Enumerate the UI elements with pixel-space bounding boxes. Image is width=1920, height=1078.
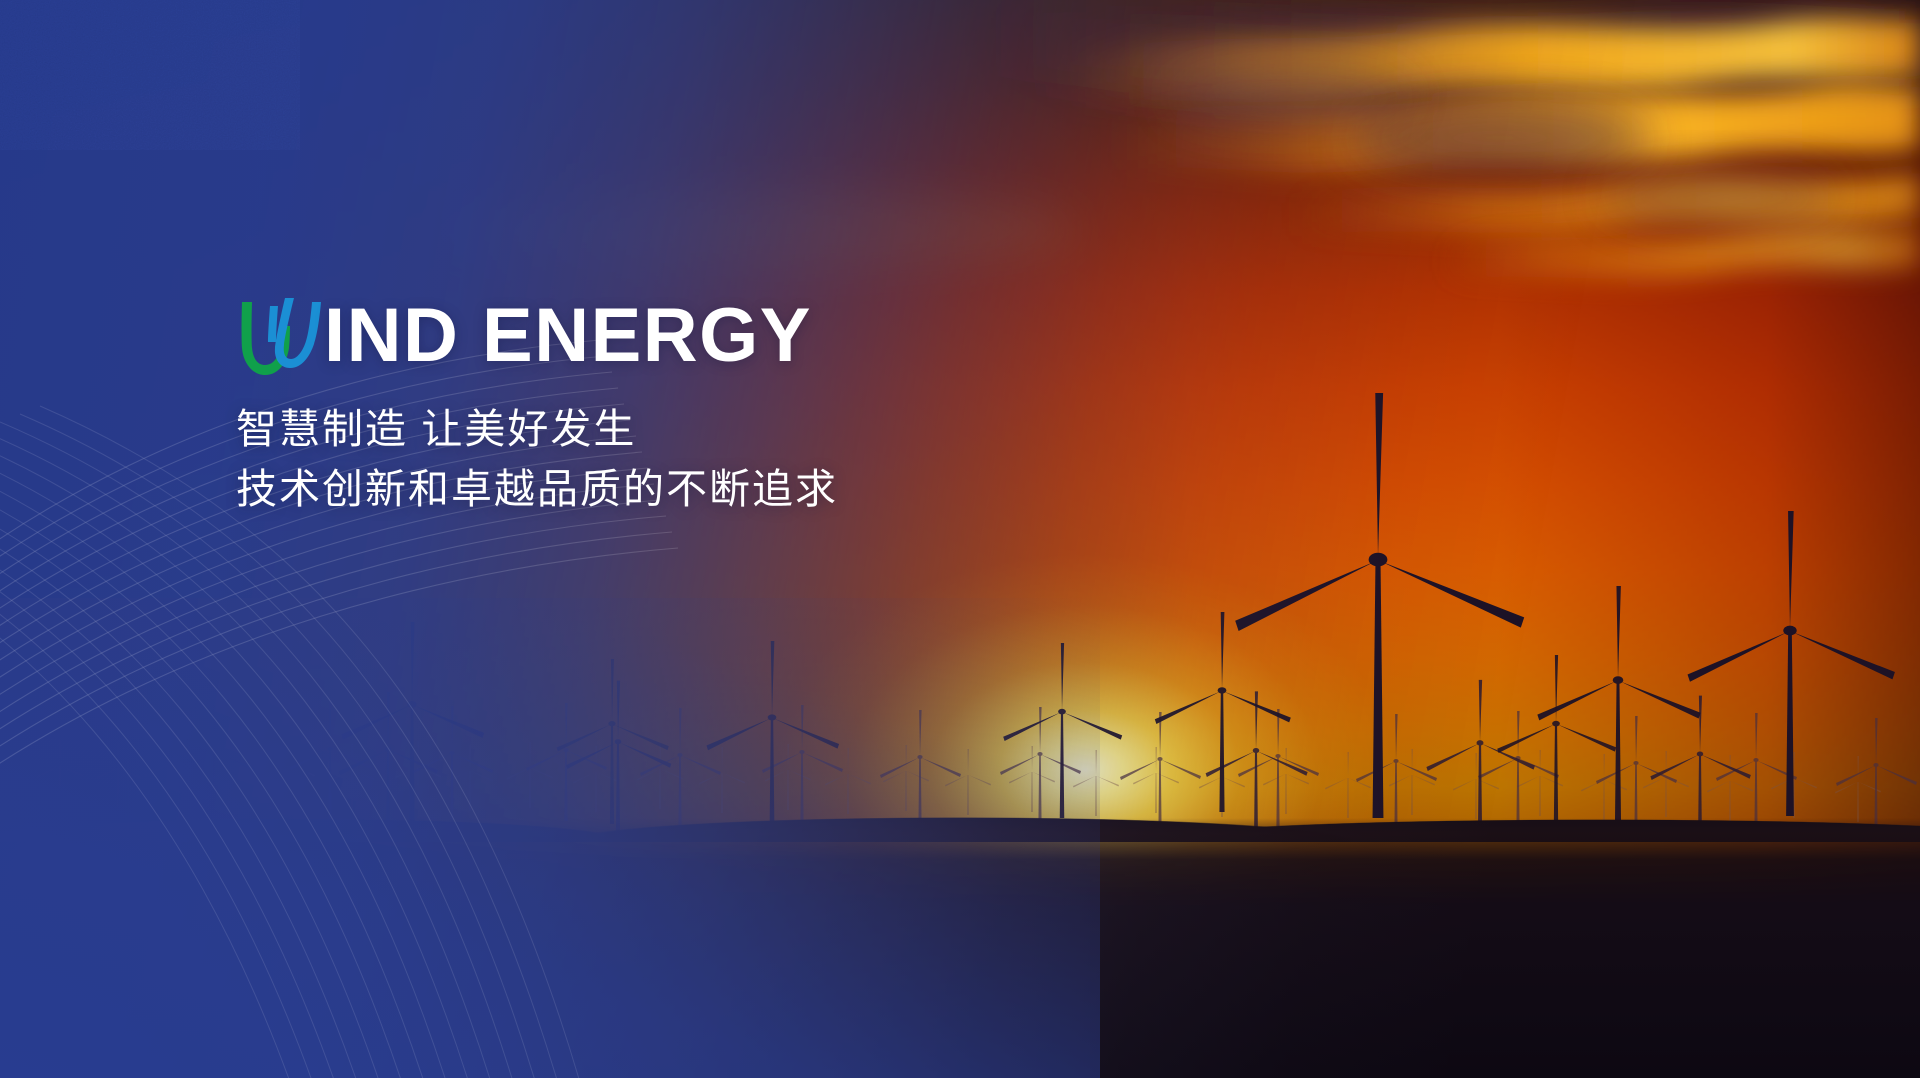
tagline-line-1: 智慧制造 让美好发生 xyxy=(236,400,838,460)
tagline-line-2: 技术创新和卓越品质的不断追求 xyxy=(236,460,838,520)
tagline-block: 智慧制造 让美好发生 技术创新和卓越品质的不断追求 xyxy=(236,400,838,520)
brand-wordmark: IND ENERGY xyxy=(324,298,812,374)
stylized-w-wind-mark-icon xyxy=(236,296,328,380)
hero-content: IND ENERGY 智慧制造 让美好发生 技术创新和卓越品质的不断追求 xyxy=(236,288,838,520)
blue-gradient-overlay-bottom xyxy=(0,598,1100,1078)
brand-lockup: IND ENERGY xyxy=(236,288,838,384)
hero-banner: IND ENERGY 智慧制造 让美好发生 技术创新和卓越品质的不断追求 xyxy=(0,0,1920,1078)
